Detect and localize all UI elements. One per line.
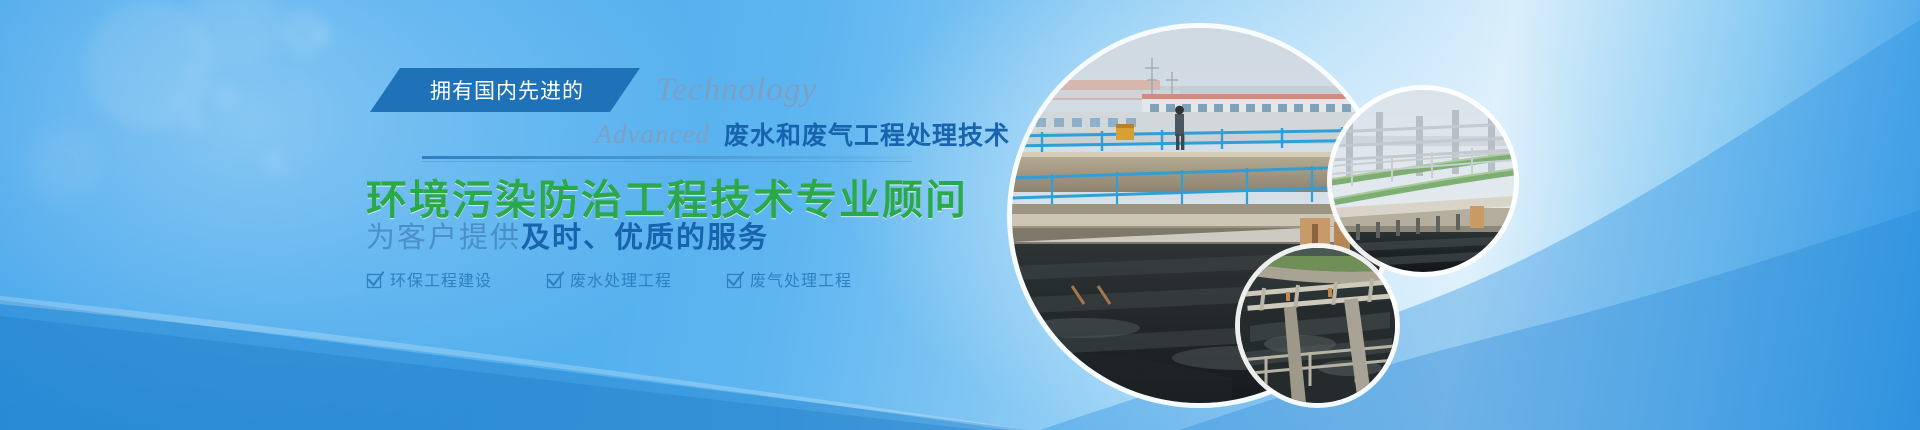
check-icon xyxy=(546,271,562,287)
subline-emphasis: 及时、优质的服务 xyxy=(521,220,769,254)
technology-word: Technology xyxy=(656,68,817,112)
check-icon xyxy=(726,271,742,287)
promo-banner: 拥有国内先进的 Technology Advanced 废水和废气工程处理技术 … xyxy=(0,0,1920,430)
feature-label: 废气处理工程 xyxy=(750,267,852,291)
green-pipeline-basins-photo xyxy=(1332,90,1514,272)
subline-prefix: 为客户提供 xyxy=(366,220,521,254)
feature-label: 环保工程建设 xyxy=(390,267,492,291)
advanced-word: Advanced xyxy=(596,119,710,152)
feature-item[interactable]: 废水处理工程 xyxy=(546,267,672,291)
eyebrow-subject: 废水和废气工程处理技术 xyxy=(724,116,1010,152)
divider-rule-thin xyxy=(422,161,912,162)
feature-label: 废水处理工程 xyxy=(570,267,672,291)
divider-rule xyxy=(422,156,912,159)
feature-item[interactable]: 环保工程建设 xyxy=(366,267,492,291)
banner-copy: 拥有国内先进的 Technology Advanced 废水和废气工程处理技术 … xyxy=(0,0,1060,430)
eyebrow-row: 拥有国内先进的 Technology xyxy=(370,68,930,112)
aeration-basin-photo xyxy=(1240,248,1395,403)
headline: 环境污染防治工程技术专业顾问 xyxy=(366,166,1066,214)
eyebrow-second-row: Advanced 废水和废气工程处理技术 xyxy=(370,112,1010,152)
feature-item[interactable]: 废气处理工程 xyxy=(726,267,852,291)
feature-list: 环保工程建设 废水处理工程 废气处理工程 xyxy=(366,266,852,292)
eyebrow-tag-label: 拥有国内先进的 xyxy=(370,68,640,112)
subline: 为客户提供及时、优质的服务 xyxy=(366,214,1066,254)
check-icon xyxy=(366,271,382,287)
